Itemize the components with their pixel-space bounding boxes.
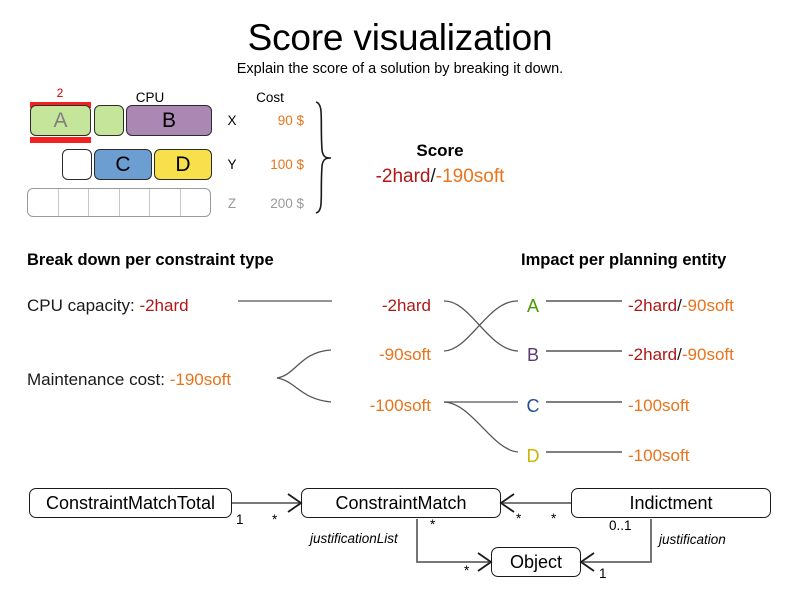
match-to-entity-lines (444, 301, 518, 452)
line-2hard-to-b (444, 301, 518, 351)
uml-multiplicity-cm-obj-target: * (464, 563, 469, 578)
score-hard: -2hard (376, 166, 431, 187)
uml-class-constraint-match-total[interactable]: ConstraintMatchTotal (29, 488, 232, 518)
overload-indicator-bottom (30, 137, 91, 143)
arrowhead-to-cm (288, 494, 301, 512)
uml-multiplicity-cmt-target: * (272, 512, 277, 527)
entity-score-soft: -90soft (682, 296, 734, 315)
empty-slot (120, 189, 151, 216)
entity-score-hard: -2hard (628, 296, 677, 315)
entity-to-score-lines (546, 301, 622, 452)
entity-label-d[interactable]: D (523, 446, 543, 467)
entity-box-extra[interactable] (94, 105, 124, 136)
score-summary-value: -2hard/-190soft (340, 164, 540, 190)
arrowhead-to-obj-from-ind (581, 553, 594, 571)
row-cost-z: 200 $ (240, 196, 304, 211)
line-90soft-to-a (444, 301, 518, 351)
constraint-match-total-0[interactable]: -2hard (335, 296, 431, 316)
uml-multiplicity-ind-obj-target: 1 (599, 566, 607, 581)
empty-slot (59, 189, 90, 216)
empty-slot (150, 189, 181, 216)
entity-box-d[interactable]: D (154, 149, 212, 180)
entity-score-soft: -90soft (682, 345, 734, 364)
uml-line-cm-to-obj (417, 519, 489, 562)
entity-label-c[interactable]: C (523, 396, 543, 417)
entity-score-soft: -100soft (628, 396, 689, 415)
uml-multiplicity-cmt-source: 1 (236, 512, 244, 527)
constraint-match-total-2[interactable]: -100soft (335, 396, 431, 416)
machine-row-x: A B (30, 105, 212, 136)
constraint-cpu-capacity[interactable]: CPU capacity: -2hard (27, 296, 189, 316)
overload-count-label: 2 (30, 86, 90, 100)
score-visualization-page: Score visualization Explain the score of… (0, 0, 800, 600)
uml-class-object[interactable]: Object (491, 547, 581, 577)
arrowhead-to-cm-from-ind (501, 494, 514, 512)
constraint-name: Maintenance cost: (27, 370, 170, 389)
entity-box-b[interactable]: B (126, 105, 212, 136)
constraint-match-total-1[interactable]: -90soft (335, 345, 431, 365)
entity-score-hard: -2hard (628, 345, 677, 364)
page-title: Score visualization (0, 16, 800, 60)
row-name-y: Y (223, 157, 241, 172)
score-summary-title: Score (340, 140, 540, 162)
entity-box-empty[interactable] (62, 149, 92, 180)
heading-impact-per-planning-entity: Impact per planning entity (521, 251, 726, 270)
entity-score-soft: -100soft (628, 446, 689, 465)
entity-score-d: -100soft (628, 446, 689, 466)
curly-brace-icon (316, 102, 331, 213)
empty-slot (89, 189, 120, 216)
constraint-score: -2hard (139, 296, 188, 315)
machine-row-y: C D (62, 149, 212, 180)
uml-role-justification-list: justificationList (310, 531, 398, 546)
uml-multiplicity-ind-obj-source: 0..1 (609, 518, 632, 533)
row-name-z: Z (223, 196, 241, 211)
score-summary: Score -2hard/-190soft (340, 140, 540, 190)
constraint-score: -190soft (170, 370, 231, 389)
uml-multiplicity-cm-obj-source: * (430, 517, 435, 532)
uml-class-indictment[interactable]: Indictment (571, 488, 771, 518)
entity-label-a[interactable]: A (523, 296, 543, 317)
uml-multiplicity-cm-ind-left: * (516, 511, 521, 526)
line-cost-to-90soft (277, 350, 331, 378)
line-cost-to-100soft (277, 378, 331, 402)
line-100soft-to-d (444, 402, 518, 452)
machine-row-z-empty[interactable] (27, 188, 211, 217)
entity-box-a[interactable]: A (30, 105, 91, 136)
empty-slot (28, 189, 59, 216)
entity-score-a: -2hard/-90soft (628, 296, 734, 316)
page-subtitle: Explain the score of a solution by break… (0, 60, 800, 78)
constraint-to-match-lines (238, 301, 332, 402)
row-cost-y: 100 $ (240, 157, 304, 172)
entity-box-c[interactable]: C (94, 149, 152, 180)
constraint-maintenance-cost[interactable]: Maintenance cost: -190soft (27, 370, 231, 390)
score-soft: -190soft (436, 166, 505, 187)
entity-label-b[interactable]: B (523, 345, 543, 366)
empty-slot (181, 189, 211, 216)
uml-role-justification: justification (659, 532, 726, 547)
row-cost-x: 90 $ (240, 113, 304, 128)
arrowhead-to-obj-from-cm (478, 553, 491, 571)
column-header-cost: Cost (240, 90, 300, 105)
entity-score-c: -100soft (628, 396, 689, 416)
uml-multiplicity-cm-ind-right: * (551, 511, 556, 526)
column-header-cpu: CPU (120, 90, 180, 105)
row-name-x: X (223, 113, 241, 128)
entity-score-b: -2hard/-90soft (628, 345, 734, 365)
heading-breakdown-per-constraint-type: Break down per constraint type (27, 251, 274, 270)
constraint-name: CPU capacity: (27, 296, 139, 315)
uml-class-constraint-match[interactable]: ConstraintMatch (301, 488, 501, 518)
